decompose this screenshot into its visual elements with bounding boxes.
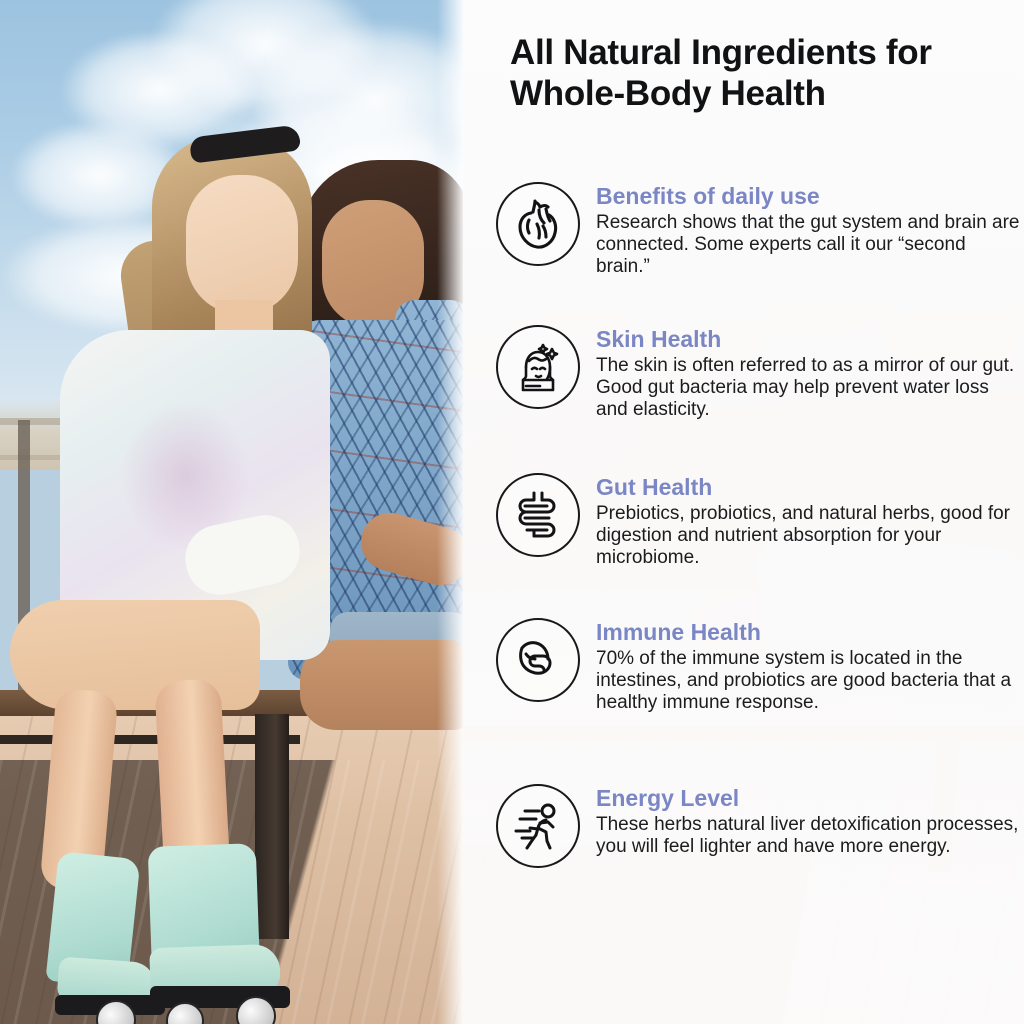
benefit-heading: Immune Health [596, 620, 1024, 646]
benefit-item-energy-level: Energy Level These herbs natural liver d… [496, 784, 1024, 868]
benefit-item-immune-health: Immune Health 70% of the immune system i… [496, 618, 1024, 714]
infographic-canvas: All Natural Ingredients for Whole-Body H… [0, 0, 1024, 1024]
benefit-text: Immune Health 70% of the immune system i… [596, 618, 1024, 714]
benefit-heading: Energy Level [596, 786, 1024, 812]
bench-leg [255, 714, 289, 939]
flexed-bicep-icon [496, 618, 580, 702]
person-a-thigh [10, 600, 260, 710]
benefit-heading: Skin Health [596, 327, 1024, 353]
running-person-icon [496, 784, 580, 868]
benefit-text: Gut Health Prebiotics, probiotics, and n… [596, 473, 1024, 569]
person-a-face [186, 175, 298, 315]
anatomical-heart-icon [496, 182, 580, 266]
benefit-body: The skin is often referred to as a mirro… [596, 355, 1024, 422]
content-panel: All Natural Ingredients for Whole-Body H… [463, 0, 1024, 1024]
benefit-body: Prebiotics, probiotics, and natural herb… [596, 503, 1024, 570]
intestine-icon [496, 473, 580, 557]
face-sparkle-icon [496, 325, 580, 409]
benefit-item-gut-health: Gut Health Prebiotics, probiotics, and n… [496, 473, 1024, 569]
benefit-item-skin-health: Skin Health The skin is often referred t… [496, 325, 1024, 421]
benefit-text: Energy Level These herbs natural liver d… [596, 784, 1024, 868]
benefit-body: These herbs natural liver detoxification… [596, 814, 1024, 858]
benefit-heading: Gut Health [596, 475, 1024, 501]
benefit-body: 70% of the immune system is located in t… [596, 648, 1024, 715]
benefit-body: Research shows that the gut system and b… [596, 212, 1024, 279]
benefit-text: Benefits of daily use Research shows tha… [596, 182, 1024, 278]
photo-edge-fade [437, 0, 463, 1024]
benefit-heading: Benefits of daily use [596, 184, 1024, 210]
benefit-text: Skin Health The skin is often referred t… [596, 325, 1024, 421]
benefit-item-daily-use: Benefits of daily use Research shows tha… [496, 182, 1024, 278]
page-title: All Natural Ingredients for Whole-Body H… [510, 33, 1010, 114]
lifestyle-photo [0, 0, 463, 1024]
panel-content: All Natural Ingredients for Whole-Body H… [463, 0, 1024, 1024]
